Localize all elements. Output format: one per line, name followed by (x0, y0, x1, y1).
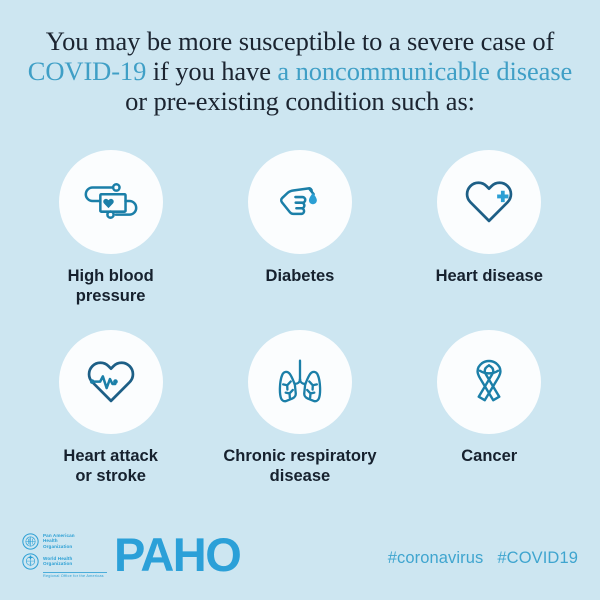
condition-item-heart-disease: Heart disease (395, 150, 584, 330)
emblem-text-world-health: World Health Organization (43, 556, 72, 567)
condition-item-heart-attack-or-stroke: Heart attack or stroke (16, 330, 205, 510)
awareness-ribbon-icon (458, 351, 520, 413)
condition-item-diabetes: Diabetes (205, 150, 394, 330)
paho-globe-emblem-icon (22, 533, 39, 550)
icon-circle (59, 330, 163, 434)
emblem-subtitle: Regional Office for the Americas (43, 574, 107, 578)
footer: Pan American Health Organization World H… (0, 514, 600, 600)
conditions-grid: High blood pressure Diabetes (16, 150, 584, 510)
icon-circle (248, 150, 352, 254)
headline-line-1: You may be more susceptible to a severe … (14, 26, 586, 56)
headline-line-2-mid: if you have (146, 56, 277, 86)
condition-label: Heart disease (436, 266, 543, 286)
heart-with-medical-cross-icon (458, 171, 520, 233)
condition-item-high-blood-pressure: High blood pressure (16, 150, 205, 330)
emblem-divider (43, 572, 107, 573)
headline-line-2: COVID-19 if you have a noncommunicable d… (14, 56, 586, 86)
headline: You may be more susceptible to a severe … (0, 26, 600, 116)
finger-prick-blood-drop-icon (269, 171, 331, 233)
condition-label: Chronic respiratory disease (223, 446, 376, 486)
paho-wordmark: PAHO (114, 531, 240, 578)
lungs-icon (269, 351, 331, 413)
condition-label: Heart attack or stroke (63, 446, 157, 486)
emblem-text-pan-american: Pan American Health Organization (43, 533, 75, 549)
infographic-canvas: You may be more susceptible to a severe … (0, 0, 600, 600)
hashtag-covid19: #COVID19 (497, 549, 578, 567)
icon-circle (248, 330, 352, 434)
condition-item-cancer: Cancer (395, 330, 584, 510)
icon-circle (437, 330, 541, 434)
condition-label: High blood pressure (68, 266, 154, 306)
icon-circle (437, 150, 541, 254)
condition-label: Diabetes (266, 266, 335, 286)
condition-item-chronic-respiratory-disease: Chronic respiratory disease (205, 330, 394, 510)
headline-ncd-highlight: a noncommunicable disease (277, 56, 572, 86)
hashtags: #coronavirus#COVID19 (388, 549, 578, 568)
condition-label: Cancer (461, 446, 517, 466)
headline-covid19-highlight: COVID-19 (28, 56, 146, 86)
headline-line-3: or pre-existing condition such as: (14, 86, 586, 116)
emblem-row-pan-american: Pan American Health Organization (22, 531, 107, 551)
paho-emblems: Pan American Health Organization World H… (22, 531, 107, 578)
icon-circle (59, 150, 163, 254)
who-emblem-icon (22, 553, 39, 570)
blood-pressure-monitor-icon (80, 171, 142, 233)
hashtag-coronavirus: #coronavirus (388, 549, 484, 567)
headline-line-3-text: or pre-existing condition such as: (125, 86, 475, 116)
heart-with-ecg-pulse-icon (80, 351, 142, 413)
emblem-row-world-health: World Health Organization (22, 551, 107, 571)
headline-line-1-text: You may be more susceptible to a severe … (46, 26, 554, 56)
paho-logo: Pan American Health Organization World H… (22, 531, 240, 578)
